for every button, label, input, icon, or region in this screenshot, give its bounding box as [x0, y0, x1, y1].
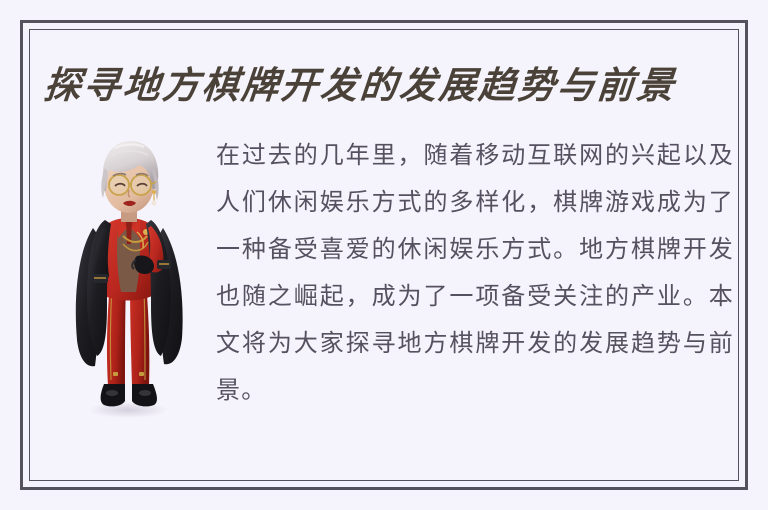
character-illustration — [55, 132, 201, 420]
body-paragraph: 在过去的几年里，随着移动互联网的兴起以及人们休闲娱乐方式的多样化，棋牌游戏成为了… — [216, 132, 734, 414]
shoe-right-highlight — [139, 390, 151, 396]
figure-ground-shadow — [88, 402, 168, 418]
glasses-lens-right — [131, 175, 151, 195]
page-title: 探寻地方棋牌开发的发展趋势与前景 — [42, 57, 737, 113]
article-body: 在过去的几年里，随着移动互联网的兴起以及人们休闲娱乐方式的多样化，棋牌游戏成为了… — [216, 132, 734, 414]
earring-stud — [152, 190, 156, 194]
glasses-lens-left — [109, 175, 129, 195]
shoe-left-highlight — [106, 390, 118, 396]
article-card: 探寻地方棋牌开发的发展趋势与前景 — [0, 0, 768, 510]
trouser-cuff-button-left — [113, 372, 118, 376]
earring-pearl — [151, 200, 156, 205]
trouser-cuff-button-right — [139, 372, 144, 376]
